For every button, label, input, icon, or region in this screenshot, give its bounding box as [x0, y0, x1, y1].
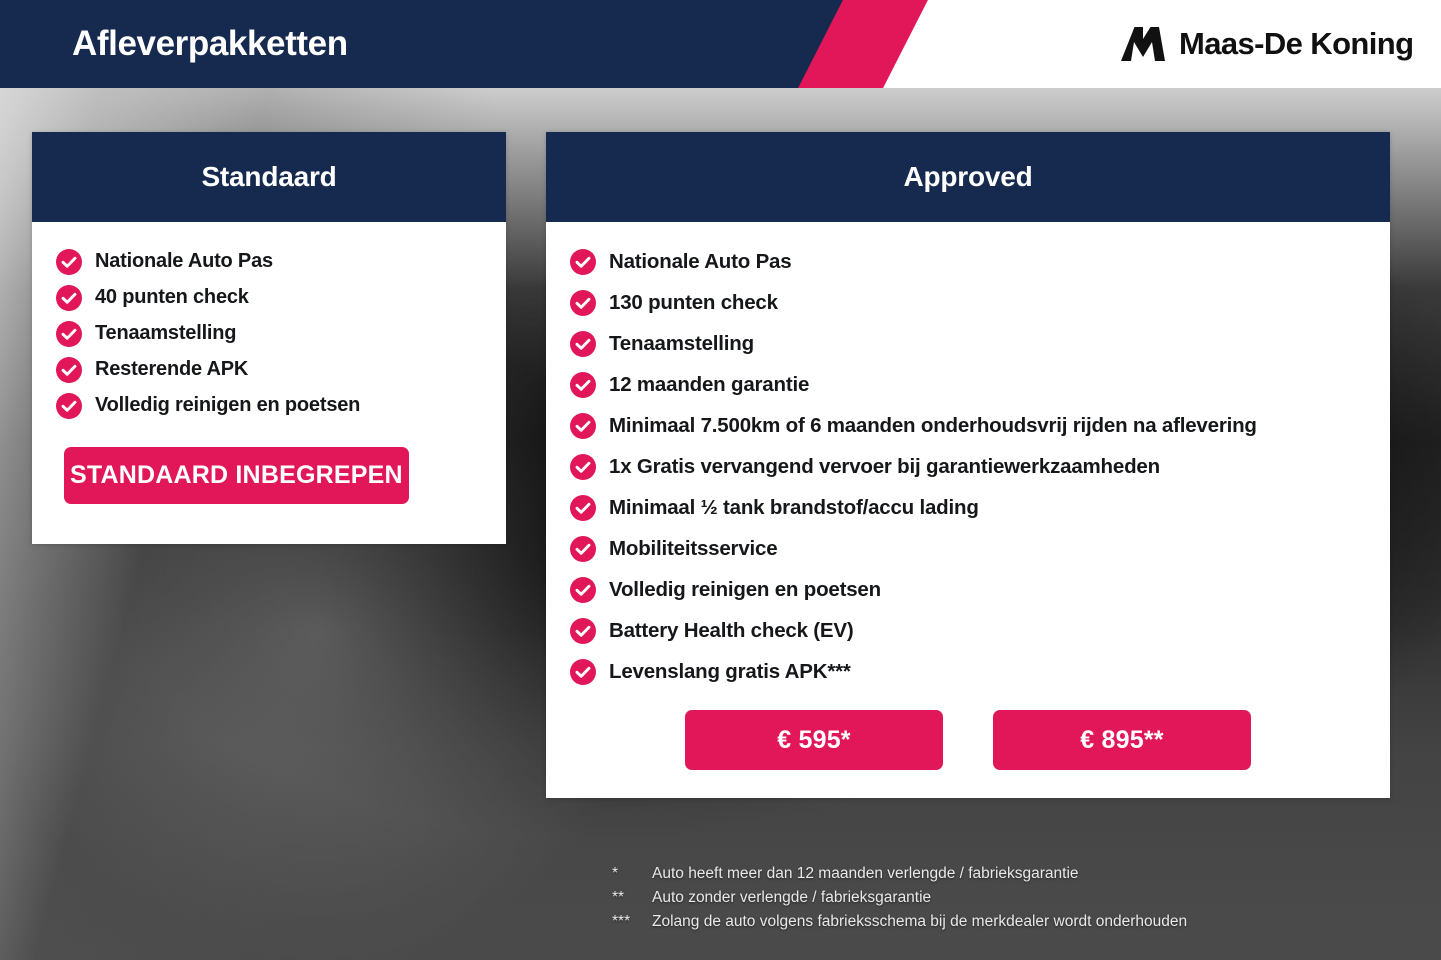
price-button-row: € 595* € 895**	[570, 710, 1366, 770]
brand-name: Maas-De Koning	[1179, 26, 1413, 62]
check-circle-icon	[570, 618, 596, 644]
feature-label: 12 maanden garantie	[609, 371, 809, 399]
list-item: 130 punten check	[570, 289, 1366, 317]
footnotes-block: * Auto heeft meer dan 12 maanden verleng…	[612, 862, 1372, 934]
list-item: Volledig reinigen en poetsen	[56, 392, 482, 419]
promo-page: Afleverpakketten Maas-De Koning Standaar…	[0, 0, 1441, 960]
list-item: Tenaamstelling	[56, 320, 482, 347]
footnote-marker: ***	[612, 910, 652, 934]
footnote-double-asterisk: ** Auto zonder verlengde / fabrieksgaran…	[612, 886, 1372, 910]
feature-label: Nationale Auto Pas	[609, 248, 791, 276]
footnote-marker: **	[612, 886, 652, 910]
list-item: Tenaamstelling	[570, 330, 1366, 358]
feature-label: Volledig reinigen en poetsen	[609, 576, 881, 604]
list-item: Minimaal ½ tank brandstof/accu lading	[570, 494, 1366, 522]
check-circle-icon	[570, 331, 596, 357]
package-card-standaard: Standaard Nationale Auto Pas 40 punten c	[32, 132, 506, 544]
page-header: Afleverpakketten Maas-De Koning	[0, 0, 1441, 88]
footnote-text: Auto heeft meer dan 12 maanden verlengde…	[652, 862, 1079, 886]
feature-label: Nationale Auto Pas	[95, 248, 273, 275]
feature-label: Minimaal ½ tank brandstof/accu lading	[609, 494, 979, 522]
feature-label: 130 punten check	[609, 289, 778, 317]
check-circle-icon	[570, 249, 596, 275]
card-body-standaard: Nationale Auto Pas 40 punten check Tenaa…	[32, 222, 506, 544]
list-item: Levenslang gratis APK***	[570, 658, 1366, 686]
check-circle-icon	[570, 290, 596, 316]
list-item: Volledig reinigen en poetsen	[570, 576, 1366, 604]
price-button-595[interactable]: € 595*	[685, 710, 943, 770]
list-item: 40 punten check	[56, 284, 482, 311]
feature-label: 40 punten check	[95, 284, 249, 311]
feature-list-standaard: Nationale Auto Pas 40 punten check Tenaa…	[56, 248, 482, 419]
price-button-895[interactable]: € 895**	[993, 710, 1251, 770]
card-title: Approved	[903, 161, 1032, 193]
check-circle-icon	[56, 249, 82, 275]
feature-label: Tenaamstelling	[609, 330, 754, 358]
feature-label: 1x Gratis vervangend vervoer bij garanti…	[609, 453, 1160, 481]
list-item: 1x Gratis vervangend vervoer bij garanti…	[570, 453, 1366, 481]
card-body-approved: Nationale Auto Pas 130 punten check Tena…	[546, 222, 1390, 798]
card-header-approved: Approved	[546, 132, 1390, 222]
card-title: Standaard	[201, 161, 336, 193]
footnote-single-asterisk: * Auto heeft meer dan 12 maanden verleng…	[612, 862, 1372, 886]
check-circle-icon	[570, 495, 596, 521]
check-circle-icon	[570, 413, 596, 439]
check-circle-icon	[570, 659, 596, 685]
page-title: Afleverpakketten	[72, 0, 348, 88]
footnote-triple-asterisk: *** Zolang de auto volgens fabrieksschem…	[612, 910, 1372, 934]
package-card-approved: Approved Nationale Auto Pas 130 punten c	[546, 132, 1390, 798]
card-header-standaard: Standaard	[32, 132, 506, 222]
footnote-text: Zolang de auto volgens fabrieksschema bi…	[652, 910, 1187, 934]
list-item: Nationale Auto Pas	[570, 248, 1366, 276]
feature-label: Volledig reinigen en poetsen	[95, 392, 360, 419]
feature-label: Battery Health check (EV)	[609, 617, 854, 645]
maas-de-koning-m-mark-icon	[1121, 27, 1165, 61]
check-circle-icon	[570, 577, 596, 603]
list-item: Mobiliteitsservice	[570, 535, 1366, 563]
feature-label: Mobiliteitsservice	[609, 535, 777, 563]
feature-label: Resterende APK	[95, 356, 248, 383]
check-circle-icon	[570, 536, 596, 562]
footnote-text: Auto zonder verlengde / fabrieksgarantie	[652, 886, 931, 910]
standaard-inbegrepen-button[interactable]: STANDAARD INBEGREPEN	[64, 447, 409, 504]
feature-label: Minimaal 7.500km of 6 maanden onderhouds…	[609, 412, 1257, 440]
feature-label: Levenslang gratis APK***	[609, 658, 851, 686]
brand-lockup: Maas-De Koning	[921, 0, 1441, 88]
list-item: Minimaal 7.500km of 6 maanden onderhouds…	[570, 412, 1366, 440]
check-circle-icon	[570, 454, 596, 480]
check-circle-icon	[570, 372, 596, 398]
footnote-marker: *	[612, 862, 652, 886]
check-circle-icon	[56, 285, 82, 311]
check-circle-icon	[56, 321, 82, 347]
feature-label: Tenaamstelling	[95, 320, 236, 347]
list-item: Battery Health check (EV)	[570, 617, 1366, 645]
check-circle-icon	[56, 357, 82, 383]
list-item: Resterende APK	[56, 356, 482, 383]
list-item: 12 maanden garantie	[570, 371, 1366, 399]
list-item: Nationale Auto Pas	[56, 248, 482, 275]
feature-list-approved: Nationale Auto Pas 130 punten check Tena…	[570, 248, 1366, 686]
check-circle-icon	[56, 393, 82, 419]
